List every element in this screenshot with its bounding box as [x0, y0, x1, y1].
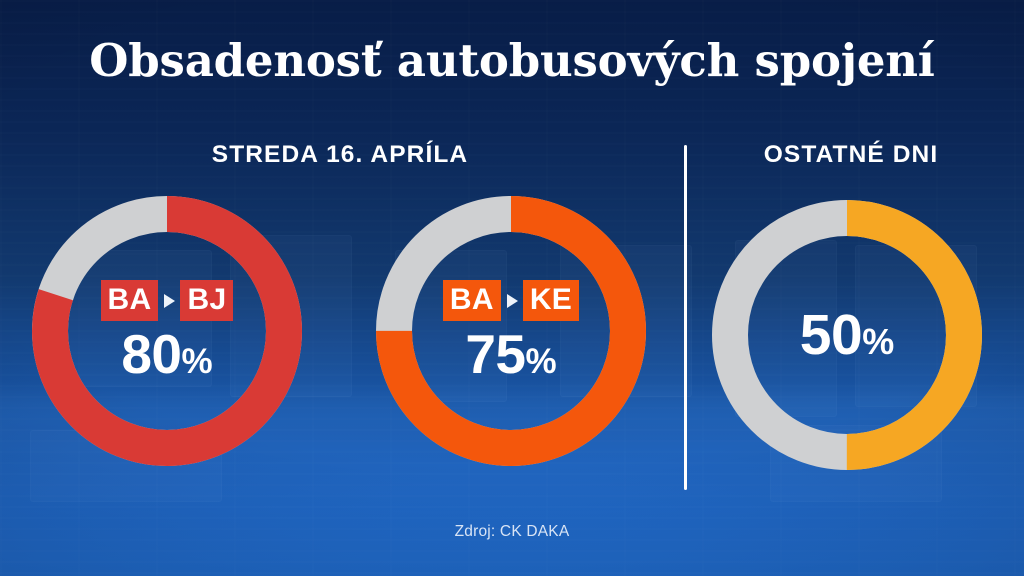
donut-chart-ba-ke: BA KE 75% [366, 186, 656, 476]
column-divider [684, 145, 687, 490]
source-attribution: Zdroj: CK DAKA [0, 523, 1024, 541]
donut-svg-ba-bj [22, 186, 312, 476]
column-header-weekday: STREDA 16. APRÍLA [30, 141, 650, 169]
donut-chart-ba-bj: BA BJ 80% [22, 186, 312, 476]
page-title: Obsadenosť autobusových spojení [0, 34, 1024, 87]
infographic-slide: Obsadenosť autobusových spojení STREDA 1… [0, 0, 1024, 576]
column-header-other-days: OSTATNÉ DNI [706, 141, 996, 169]
donut-svg-ba-ke [366, 186, 656, 476]
donut-chart-other-days: 50% [702, 190, 992, 480]
donut-svg-other-days [702, 190, 992, 480]
